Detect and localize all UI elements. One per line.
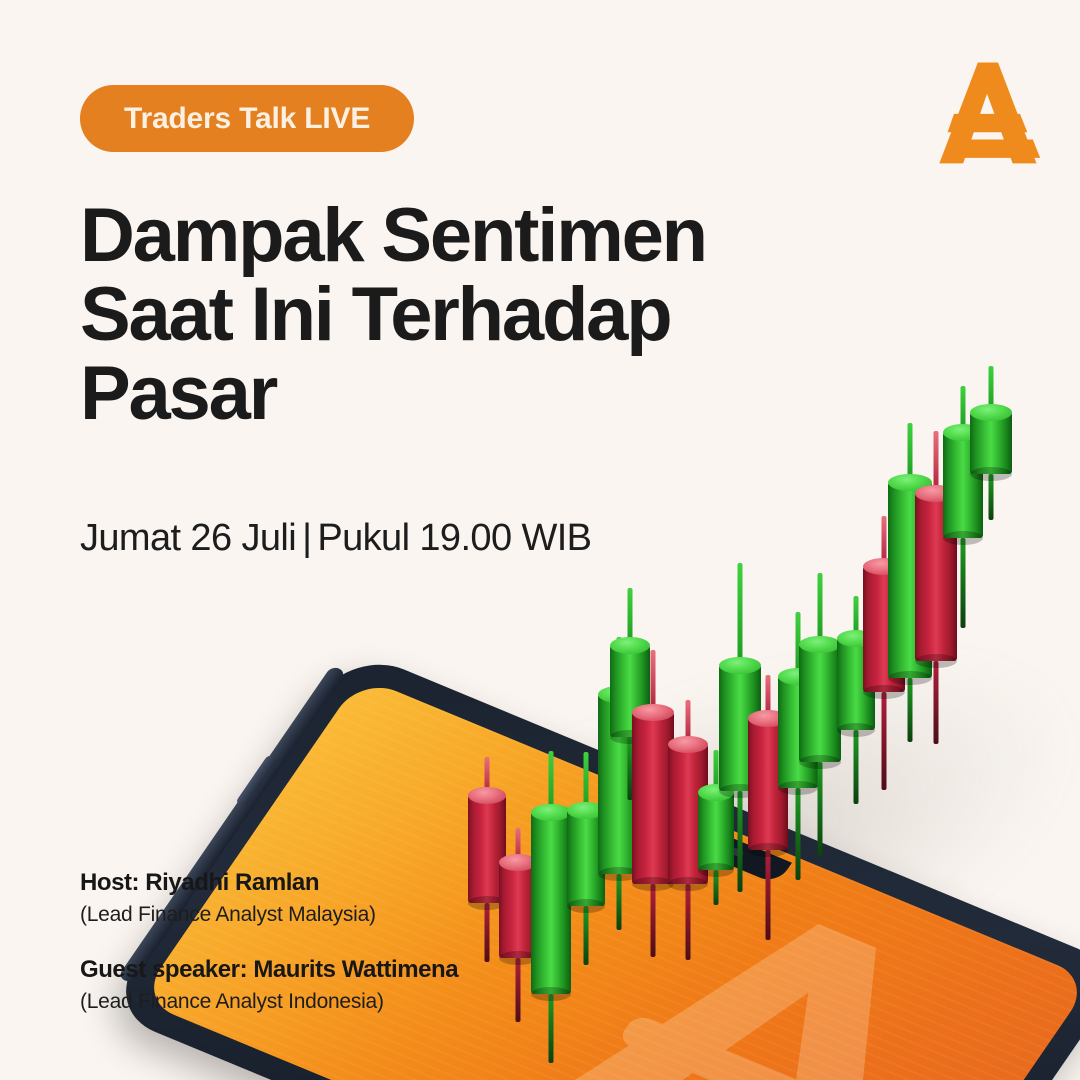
candle-upper-wick xyxy=(796,612,801,676)
earpiece-speaker-icon xyxy=(687,830,745,858)
candle-1-bearish xyxy=(468,757,506,962)
title-line-3: Pasar xyxy=(80,354,780,433)
candle-body-base xyxy=(837,723,875,737)
candle-lower-wick xyxy=(584,906,589,965)
candle-15-bearish xyxy=(863,516,905,790)
credits-block: Host: Riyadhi Ramlan (Lead Finance Analy… xyxy=(80,868,458,1017)
candle-14-bullish xyxy=(837,596,875,804)
candle-lower-wick xyxy=(549,994,554,1063)
candle-body xyxy=(632,712,674,884)
candle-3-bullish xyxy=(531,751,571,1063)
candle-upper-wick xyxy=(686,700,691,744)
candle-lower-wick xyxy=(651,884,656,957)
candle-lower-wick xyxy=(714,870,719,905)
candle-body-base xyxy=(778,781,818,795)
promo-poster: Traders Talk LIVE Dampak Sentimen Saat I… xyxy=(0,0,1080,1080)
candle-upper-wick xyxy=(485,757,490,795)
candle-lower-wick xyxy=(882,692,887,790)
candle-upper-wick xyxy=(882,516,887,566)
candle-body-base xyxy=(863,685,905,699)
candle-17-bearish xyxy=(915,431,957,744)
candle-body-cap xyxy=(943,424,983,441)
candle-body xyxy=(888,482,932,678)
candle-upper-wick xyxy=(908,423,913,482)
candle-upper-wick xyxy=(714,750,719,792)
candle-body-base xyxy=(943,531,983,545)
candle-upper-wick xyxy=(854,596,859,638)
schedule-line: Jumat 26 Juli|Pukul 19.00 WIB xyxy=(80,517,591,560)
candle-body-base xyxy=(698,863,734,877)
candle-body xyxy=(468,795,506,903)
candle-body-base xyxy=(610,730,650,744)
camera-notch-icon xyxy=(638,805,792,884)
candle-body-base xyxy=(567,899,605,913)
candle-body xyxy=(943,432,983,538)
candle-body-cap xyxy=(778,668,818,685)
candle-body-cap xyxy=(468,787,506,804)
candle-2-bearish xyxy=(499,828,537,1022)
candle-body xyxy=(799,644,841,762)
schedule-separator: | xyxy=(296,517,317,560)
candle-body xyxy=(778,676,818,788)
credit-host-name: Host: Riyadhi Ramlan xyxy=(80,868,458,898)
schedule-time: Pukul 19.00 WIB xyxy=(317,517,591,559)
candle-lower-wick xyxy=(961,538,966,628)
candle-13-bullish xyxy=(799,573,841,856)
candle-19-bullish xyxy=(970,366,1012,520)
candle-body xyxy=(668,744,708,884)
candle-9-bullish xyxy=(698,750,734,905)
candle-12-bullish xyxy=(778,612,818,880)
title-line-1: Dampak Sentimen xyxy=(80,196,780,275)
candle-body-base xyxy=(915,654,957,668)
candle-6-bullish xyxy=(610,588,650,800)
candle-body-cap xyxy=(668,736,708,753)
candle-lower-wick xyxy=(854,730,859,804)
candle-upper-wick xyxy=(516,828,521,862)
credit-guest-name: Guest speaker: Maurits Wattimena xyxy=(80,955,458,985)
candle-body-cap xyxy=(610,637,650,654)
candle-body xyxy=(748,718,788,850)
credit-guest: Guest speaker: Maurits Wattimena (Lead F… xyxy=(80,955,458,1016)
candle-upper-wick xyxy=(961,386,966,432)
candle-lower-wick xyxy=(908,678,913,742)
candle-lower-wick xyxy=(934,661,939,744)
candle-lower-wick xyxy=(628,737,633,800)
credit-guest-role: (Lead Finance Analyst Indonesia) xyxy=(80,988,458,1016)
credit-host-role: (Lead Finance Analyst Malaysia) xyxy=(80,901,458,929)
candle-body-cap xyxy=(632,704,674,721)
candle-body-base xyxy=(970,467,1012,481)
live-badge: Traders Talk LIVE xyxy=(80,85,414,152)
candle-body-cap xyxy=(915,485,957,502)
title-line-2: Saat Ini Terhadap xyxy=(80,275,780,354)
page-title: Dampak Sentimen Saat Ini Terhadap Pasar xyxy=(80,196,780,433)
candle-lower-wick xyxy=(989,474,994,520)
candle-body-base xyxy=(799,755,841,769)
candle-body xyxy=(567,810,605,906)
candle-body-base xyxy=(888,671,932,685)
candle-body xyxy=(863,566,905,692)
candle-body-cap xyxy=(719,657,761,674)
candle-body xyxy=(915,493,957,661)
candle-body-cap xyxy=(499,854,537,871)
candle-body-base xyxy=(468,896,506,910)
candle-5-bullish xyxy=(598,637,640,930)
candle-upper-wick xyxy=(738,563,743,665)
candle-body-base xyxy=(598,867,640,881)
candle-body-cap xyxy=(531,804,571,821)
candle-body xyxy=(610,645,650,737)
candle-lower-wick xyxy=(617,874,622,930)
schedule-date: Jumat 26 Juli xyxy=(80,517,296,559)
phone-side-button xyxy=(235,754,279,807)
candle-upper-wick xyxy=(818,573,823,644)
candle-upper-wick xyxy=(766,675,771,718)
candle-body xyxy=(970,412,1012,474)
candle-body-base xyxy=(748,843,788,857)
candle-body xyxy=(719,665,761,791)
credit-host: Host: Riyadhi Ramlan (Lead Finance Analy… xyxy=(80,868,458,929)
candle-upper-wick xyxy=(989,366,994,412)
candle-upper-wick xyxy=(651,650,656,712)
candle-lower-wick xyxy=(738,791,743,892)
candle-lower-wick xyxy=(766,850,771,940)
candle-lower-wick xyxy=(686,884,691,960)
candle-lower-wick xyxy=(818,762,823,856)
candle-body-cap xyxy=(799,636,841,653)
candle-body xyxy=(598,694,640,874)
candle-body-cap xyxy=(863,558,905,575)
candle-11-bearish xyxy=(748,675,788,940)
candle-8-bearish xyxy=(668,700,708,960)
candle-body-base xyxy=(531,987,571,1001)
candle-body-cap xyxy=(970,404,1012,421)
candle-lower-wick xyxy=(516,958,521,1022)
candle-body-base xyxy=(499,951,537,965)
candle-body-cap xyxy=(567,802,605,819)
candle-body-cap xyxy=(598,686,640,703)
candle-upper-wick xyxy=(628,588,633,645)
candle-18-bullish xyxy=(943,386,983,628)
candle-body-cap xyxy=(748,710,788,727)
candle-4-bullish xyxy=(567,752,605,965)
candle-upper-wick xyxy=(617,637,622,694)
candle-body-base xyxy=(719,784,761,798)
live-badge-label: Traders Talk LIVE xyxy=(124,104,370,134)
candle-upper-wick xyxy=(584,752,589,810)
candle-lower-wick xyxy=(796,788,801,880)
candle-body xyxy=(531,812,571,994)
candle-7-bearish xyxy=(632,650,674,957)
candle-body xyxy=(837,638,875,730)
letter-a-monogram-icon xyxy=(932,55,1042,170)
candle-upper-wick xyxy=(934,431,939,493)
candle-body-cap xyxy=(837,630,875,647)
candle-body-cap xyxy=(698,784,734,801)
candle-body-cap xyxy=(888,474,932,491)
candle-upper-wick xyxy=(549,751,554,812)
candle-body xyxy=(499,862,537,958)
candle-body-base xyxy=(668,877,708,891)
candle-lower-wick xyxy=(485,903,490,962)
candle-10-bullish xyxy=(719,563,761,892)
candle-16-bullish xyxy=(888,423,932,742)
candle-body-base xyxy=(632,877,674,891)
candle-body xyxy=(698,792,734,870)
letter-a-monogram-watermark-icon xyxy=(452,820,1057,1080)
